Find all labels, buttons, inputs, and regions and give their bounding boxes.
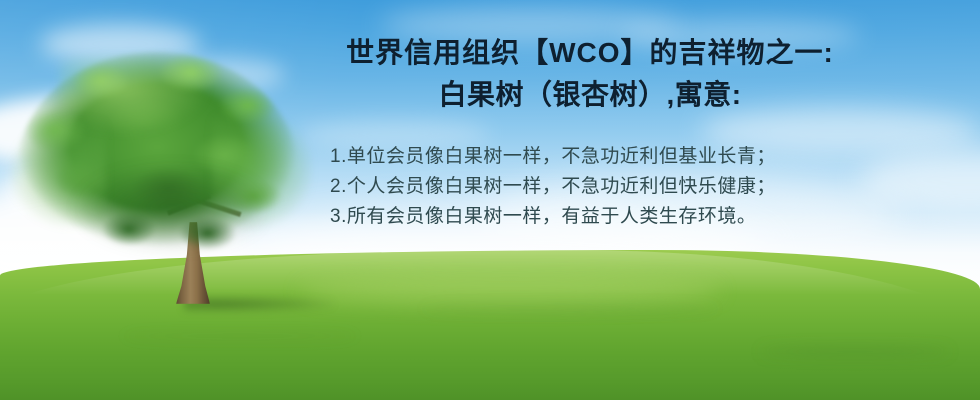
banner-body-list: 1.单位会员像白果树一样，不急功近利但基业长青； 2.个人会员像白果树一样，不急…: [330, 142, 870, 232]
wco-mascot-banner: 世界信用组织【WCO】的吉祥物之一: 白果树（银杏树）,寓意: 1.单位会员像白…: [0, 0, 980, 400]
banner-title: 世界信用组织【WCO】的吉祥物之一: 白果树（银杏树）,寓意:: [290, 32, 890, 116]
body-line-1: 1.单位会员像白果树一样，不急功近利但基业长青；: [330, 142, 870, 172]
title-line-1: 世界信用组织【WCO】的吉祥物之一:: [290, 32, 890, 74]
body-line-2: 2.个人会员像白果树一样，不急功近利但快乐健康；: [330, 172, 870, 202]
banner-text-layer: 世界信用组织【WCO】的吉祥物之一: 白果树（银杏树）,寓意: 1.单位会员像白…: [0, 0, 980, 400]
title-line-2: 白果树（银杏树）,寓意:: [290, 74, 890, 116]
body-line-3: 3.所有会员像白果树一样，有益于人类生存环境。: [330, 202, 870, 232]
